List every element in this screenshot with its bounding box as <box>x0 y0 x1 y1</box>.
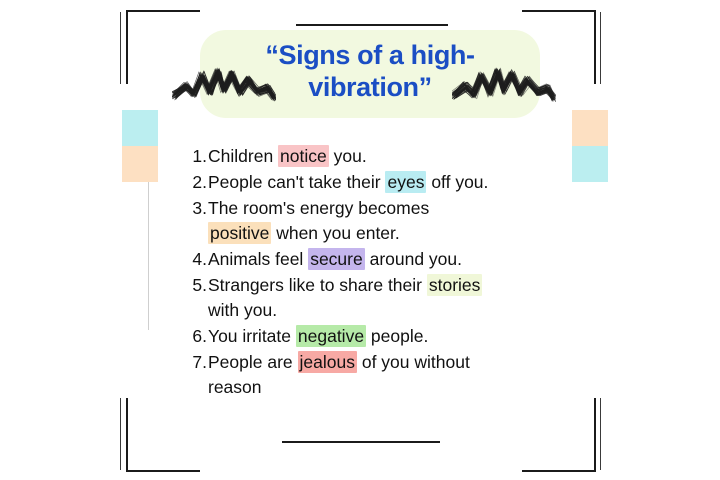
list-item-line: Children notice you. <box>208 144 586 169</box>
chip-right-top <box>572 110 608 146</box>
corner-bracket-bottom-left <box>126 398 200 472</box>
divider-bottom <box>282 441 440 443</box>
list-item: 7.People are jealous of you withoutreaso… <box>186 350 586 400</box>
plain-text: you. <box>329 146 367 166</box>
plain-text: You irritate <box>208 326 296 346</box>
chip-left-top <box>122 110 158 146</box>
chip-left-bottom <box>122 146 158 182</box>
list-item-text: Strangers like to share their storieswit… <box>208 273 586 323</box>
poster-canvas: “Signs of a high- vibration” 1.Children … <box>0 0 720 480</box>
list-item-number: 2. <box>186 170 208 195</box>
list-item-number: 1. <box>186 144 208 169</box>
list-item: 6.You irritate negative people. <box>186 324 586 349</box>
plain-text: reason <box>208 377 262 397</box>
plain-text: with you. <box>208 300 277 320</box>
list-item-text: Children notice you. <box>208 144 586 169</box>
accent-line-left-top <box>120 12 121 84</box>
corner-bracket-bottom-right <box>522 398 596 472</box>
list-item-number: 4. <box>186 247 208 272</box>
list-item-line: You irritate negative people. <box>208 324 586 349</box>
list-item-text: You irritate negative people. <box>208 324 586 349</box>
list-item-line: Animals feel secure around you. <box>208 247 586 272</box>
list-item-text: People can't take their eyes off you. <box>208 170 586 195</box>
title-banner: “Signs of a high- vibration” <box>200 30 540 118</box>
list-item-text: People are jealous of you withoutreason <box>208 350 586 400</box>
corner-bracket-top-left <box>126 10 200 84</box>
list-item: 3.The room's energy becomespositive when… <box>186 196 586 246</box>
list-item-line: positive when you enter. <box>208 221 586 246</box>
list-item-line: with you. <box>208 298 586 323</box>
list-item: 4.Animals feel secure around you. <box>186 247 586 272</box>
list-item-number: 6. <box>186 324 208 349</box>
list-item-number: 3. <box>186 196 208 221</box>
plain-text: Children <box>208 146 278 166</box>
list-item-line: The room's energy becomes <box>208 196 586 221</box>
plain-text: Strangers like to share their <box>208 275 427 295</box>
plain-text: of you without <box>357 352 470 372</box>
plain-text: off you. <box>426 172 488 192</box>
highlighted-word: notice <box>278 145 329 167</box>
list-item-line: reason <box>208 375 586 400</box>
plain-text: when you enter. <box>271 223 399 243</box>
plain-text: People are <box>208 352 298 372</box>
list-item-number: 7. <box>186 350 208 375</box>
highlighted-word: positive <box>208 222 271 244</box>
plain-text: around you. <box>365 249 462 269</box>
accent-line-right-bottom <box>600 398 601 470</box>
plain-text: People can't take their <box>208 172 385 192</box>
plain-text: The room's energy becomes <box>208 198 429 218</box>
highlighted-word: negative <box>296 325 366 347</box>
list-item-text: Animals feel secure around you. <box>208 247 586 272</box>
list-item: 1.Children notice you. <box>186 144 586 169</box>
list-item: 2.People can't take their eyes off you. <box>186 170 586 195</box>
plain-text: people. <box>366 326 428 346</box>
list-item-line: Strangers like to share their stories <box>208 273 586 298</box>
list-item: 5.Strangers like to share their storiesw… <box>186 273 586 323</box>
plain-text: Animals feel <box>208 249 308 269</box>
accent-line-left-bottom <box>120 398 121 470</box>
highlighted-word: jealous <box>298 351 357 373</box>
divider-top <box>296 24 448 26</box>
list-item-line: People can't take their eyes off you. <box>208 170 586 195</box>
signs-list: 1.Children notice you.2.People can't tak… <box>186 144 586 401</box>
page-title: “Signs of a high- vibration” <box>200 40 540 104</box>
highlighted-word: stories <box>427 274 483 296</box>
accent-line-right-top <box>600 12 601 84</box>
list-item-number: 5. <box>186 273 208 298</box>
highlighted-word: eyes <box>385 171 426 193</box>
list-item-text: The room's energy becomespositive when y… <box>208 196 586 246</box>
highlighted-word: secure <box>308 248 365 270</box>
list-item-line: People are jealous of you without <box>208 350 586 375</box>
